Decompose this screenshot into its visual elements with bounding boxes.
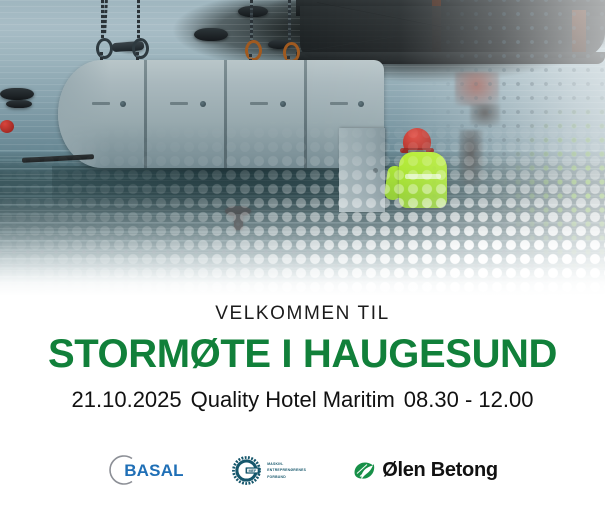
buoy: [0, 88, 34, 100]
poster-text-block: VELKOMMEN TIL STORMØTE I HAUGESUND 21.10…: [0, 296, 605, 414]
buoy-red: [0, 120, 14, 133]
pipe-seam: [144, 60, 147, 168]
page-title: STORMØTE I HAUGESUND: [0, 330, 605, 378]
event-details-line: 21.10.2025Quality Hotel Maritim08.30 - 1…: [0, 386, 605, 414]
pipe-label: [170, 102, 188, 105]
concrete-wall-block: [339, 128, 385, 212]
event-venue: Quality Hotel Maritim: [191, 387, 395, 412]
mef-line-3: FORBUND: [267, 475, 306, 479]
post-reflection: [459, 130, 483, 186]
pipe-bolt: [200, 101, 206, 107]
pipe-bolt: [120, 101, 126, 107]
mef-line-1: MASKIN-: [267, 462, 306, 466]
pipe-label: [92, 102, 110, 105]
pipe-label: [250, 102, 268, 105]
machinery-reflection-red: [455, 72, 499, 106]
event-poster: VELKOMMEN TIL STORMØTE I HAUGESUND 21.10…: [0, 0, 605, 507]
logo-basal[interactable]: BASAL: [107, 453, 185, 487]
pipe-seam: [304, 60, 307, 168]
event-time: 08.30 - 12.00: [404, 387, 534, 412]
concrete-pipe: [58, 60, 384, 168]
mef-gear-icon: MEF: [231, 455, 262, 486]
lifting-shackle: [96, 38, 113, 59]
olen-leaf-icon: [352, 460, 378, 481]
event-date: 21.10.2025: [72, 387, 182, 412]
kicker-text: VELKOMMEN TIL: [0, 296, 605, 326]
sponsor-logo-row: BASAL MEF MASKIN- ENTREPRENØRENES FORBUN…: [0, 448, 605, 492]
pier-post: [572, 10, 586, 58]
buoy: [6, 100, 32, 108]
buoy-stem: [234, 214, 243, 230]
shore-rock-mass: [300, 6, 605, 58]
lifting-chain: [288, 0, 291, 44]
pipe-label: [330, 102, 348, 105]
pipe-bolt: [358, 101, 364, 107]
logo-olen-betong[interactable]: Ølen Betong: [352, 459, 498, 482]
lifting-shackle: [245, 40, 262, 61]
basal-wordmark: BASAL: [124, 461, 184, 481]
olen-betong-wordmark: Ølen Betong: [382, 459, 498, 482]
lifting-chain: [137, 0, 140, 40]
hero-photo-banner: [0, 0, 605, 300]
lifting-shackle: [132, 38, 149, 59]
svg-text:MEF: MEF: [249, 468, 258, 472]
machinery-reflection-dark: [470, 104, 500, 126]
buoy: [238, 6, 268, 17]
pipe-seam: [224, 60, 227, 168]
mef-wordmark-lines: MASKIN- ENTREPRENØRENES FORBUND: [267, 462, 306, 479]
mef-line-2: ENTREPRENØRENES: [267, 468, 306, 472]
pipe-bolt: [280, 101, 286, 107]
lifting-chain: [250, 0, 253, 42]
logo-mef[interactable]: MEF MASKIN- ENTREPRENØRENES FORBUND: [231, 455, 306, 486]
worker-hivis-vest: [399, 152, 447, 208]
buoy: [194, 28, 228, 41]
